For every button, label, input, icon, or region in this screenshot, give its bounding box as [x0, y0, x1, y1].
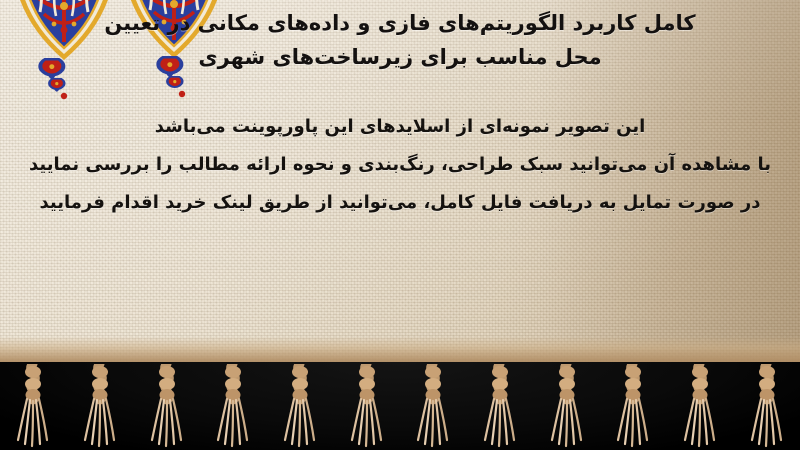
- slide-body: این تصویر نمونه‌ای از اسلایدهای این پاور…: [0, 108, 800, 222]
- carpet-fringe-edge: [0, 336, 800, 362]
- body-line-2: با مشاهده آن می‌توانید سبک طراحی، رنگ‌بن…: [20, 146, 780, 184]
- body-line-1: این تصویر نمونه‌ای از اسلایدهای این پاور…: [20, 108, 780, 146]
- body-line-3: در صورت تمایل به دریافت فایل کامل، می‌تو…: [20, 184, 780, 222]
- slide-canvas: کامل کاربرد الگوریتم‌های فازی و داده‌های…: [0, 0, 800, 450]
- title-line-1: کامل کاربرد الگوریتم‌های فازی و داده‌های…: [40, 6, 760, 40]
- slide-title: کامل کاربرد الگوریتم‌های فازی و داده‌های…: [0, 6, 800, 74]
- title-line-2: محل مناسب برای زیرساخت‌های شهری: [40, 40, 760, 74]
- carpet-fringe-band: [0, 362, 800, 450]
